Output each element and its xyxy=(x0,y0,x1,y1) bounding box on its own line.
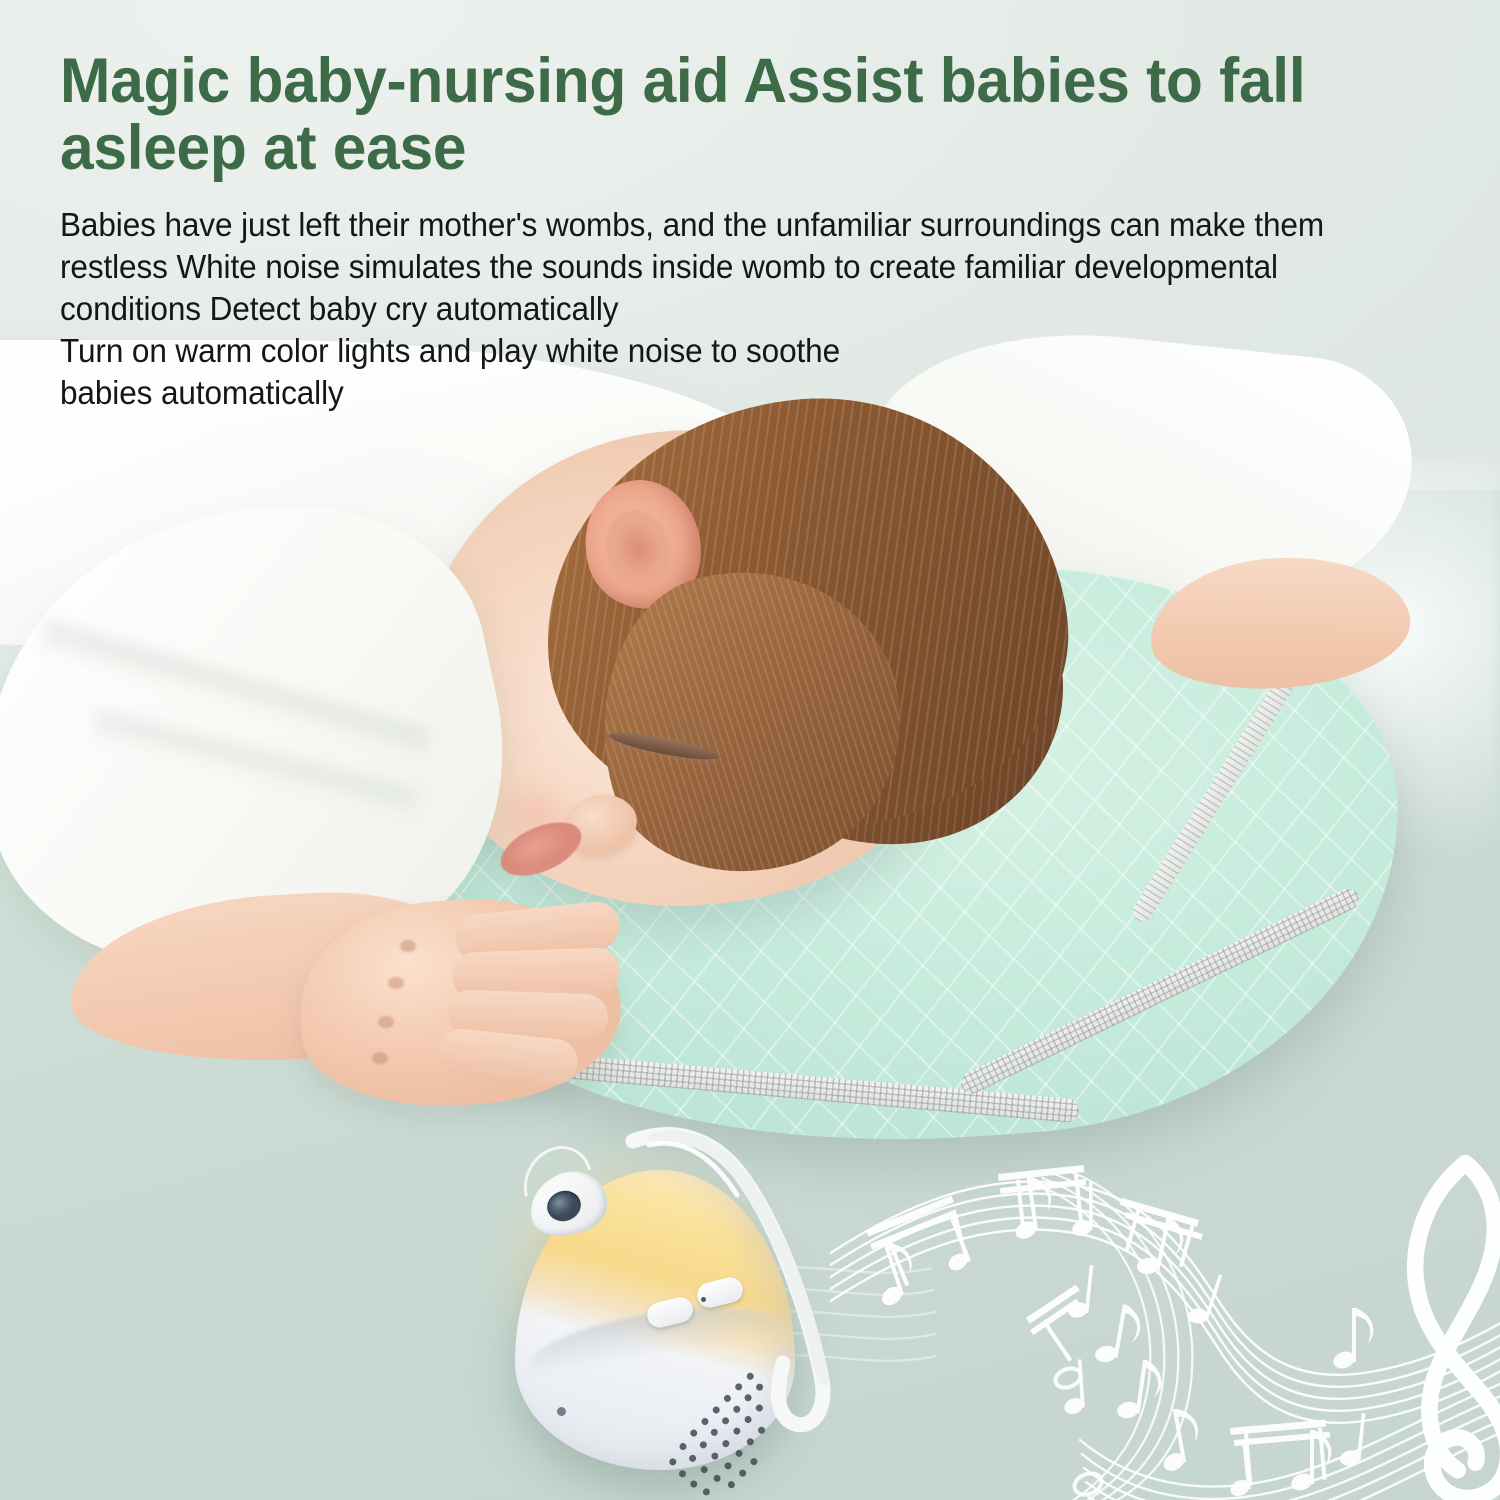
copy-block: Magic baby-nursing aid Assist babies to … xyxy=(60,48,1430,415)
baby-knuckle xyxy=(388,977,404,989)
white-noise-machine[interactable] xyxy=(505,1145,825,1475)
music-notes-decoration xyxy=(830,1110,1500,1500)
microphone-icon xyxy=(557,1407,566,1416)
product-marketing-banner: Magic baby-nursing aid Assist babies to … xyxy=(0,0,1500,1500)
baby-knuckle xyxy=(378,1016,394,1028)
body-description: Babies have just left their mother's wom… xyxy=(60,204,1368,415)
page-title: Magic baby-nursing aid Assist babies to … xyxy=(60,48,1375,182)
led-indicator-icon xyxy=(701,1297,706,1302)
baby-knuckle xyxy=(372,1052,388,1064)
baby-knuckle xyxy=(400,940,416,952)
